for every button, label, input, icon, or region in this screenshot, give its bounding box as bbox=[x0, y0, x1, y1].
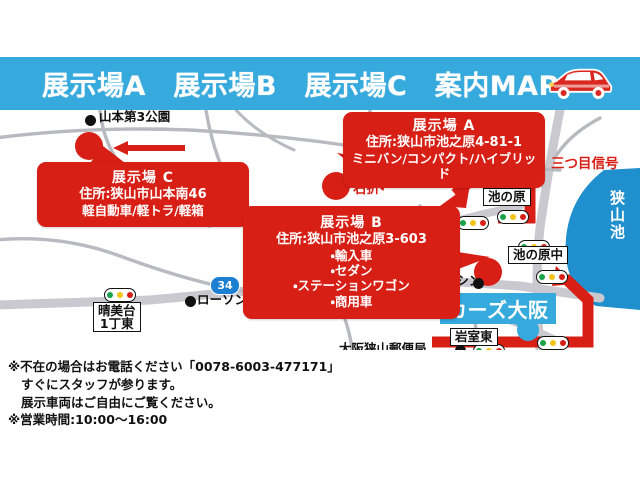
map-canvas: 34 310 山本第3公園 右折 三つ目信号 池の原 池の原中 ジョーシン 岩室… bbox=[0, 110, 640, 350]
callout-b-item-0: ・輸入車 bbox=[249, 248, 454, 263]
label-sayamaike: 狭山池 bbox=[607, 190, 628, 241]
callout-c-kinds: 軽自動車/軽トラ/軽箱 bbox=[43, 203, 243, 218]
red-car-icon bbox=[542, 63, 614, 105]
callout-b-item-1: ・セダン bbox=[249, 263, 454, 278]
signal-iwamuro bbox=[537, 336, 569, 350]
label-ikenohara-naka: 池の原中 bbox=[508, 246, 568, 264]
note-line-3: 展示車両はご自由にご覧ください。 bbox=[8, 394, 428, 412]
map-page: 展示場A 展示場B 展示場C 案内MAP bbox=[0, 0, 640, 480]
signal-ikenohara bbox=[497, 210, 529, 224]
callout-c-title: 展示場 C bbox=[43, 170, 243, 187]
label-mitsume-shingo: 三つ目信号 bbox=[551, 157, 619, 173]
label-harumidai-line2: 1丁東 bbox=[100, 316, 134, 331]
note-line-2: すぐにスタッフが参ります。 bbox=[8, 376, 428, 394]
callout-a-kinds: ミニバン/コンパクト/ハイブリッド bbox=[349, 151, 539, 182]
label-ikenohara: 池の原 bbox=[483, 188, 531, 206]
callout-b-item-2: ・ステーションワゴン bbox=[249, 278, 454, 293]
callout-a-address: 住所:狭山市池之原4-81-1 bbox=[349, 135, 539, 151]
callout-b-title: 展示場 B bbox=[249, 215, 454, 232]
signal-harumidai bbox=[104, 288, 136, 302]
note-line-1: ※不在の場合はお電話ください「0078-6003-477171」 bbox=[8, 358, 428, 376]
callout-a-title: 展示場 A bbox=[349, 118, 539, 135]
footer-notes: ※不在の場合はお電話ください「0078-6003-477171」 すぐにスタッフ… bbox=[8, 358, 428, 429]
callout-tenjijo-c[interactable]: 展示場 C 住所:狭山市山本南46 軽自動車/軽トラ/軽箱 bbox=[37, 162, 249, 227]
page-header: 展示場A 展示場B 展示場C 案内MAP bbox=[0, 57, 640, 110]
callout-b-address: 住所:狭山市池之原3-603 bbox=[249, 232, 454, 248]
label-yamamoto-park: 山本第3公園 bbox=[99, 110, 170, 124]
label-harumidai: 晴美台 1丁東 bbox=[93, 302, 141, 332]
signal-ikenohara-naka2 bbox=[536, 270, 568, 284]
callout-tenjijo-a[interactable]: 展示場 A 住所:狭山市池之原4-81-1 ミニバン/コンパクト/ハイブリッド bbox=[343, 112, 545, 188]
label-osaka-sayama-post: 大阪狭山郵便局 bbox=[339, 342, 427, 350]
note-line-4: ※営業時間:10:00～16:00 bbox=[8, 411, 428, 429]
callout-c-address: 住所:狭山市山本南46 bbox=[43, 187, 243, 203]
label-lawson: ローソン bbox=[197, 293, 247, 307]
dot-lawson bbox=[185, 296, 196, 307]
page-title: 展示場A 展示場B 展示場C 案内MAP bbox=[42, 64, 559, 103]
label-iwamuro-higashi: 岩室東 bbox=[450, 328, 498, 346]
dot-yamamoto-park bbox=[85, 115, 96, 126]
callout-b-item-3: ・商用車 bbox=[249, 294, 454, 309]
callout-tenjijo-b[interactable]: 展示場 B 住所:狭山市池之原3-603 ・輸入車 ・セダン ・ステーションワゴ… bbox=[243, 206, 460, 319]
signal-ikenohara-west bbox=[457, 216, 489, 230]
